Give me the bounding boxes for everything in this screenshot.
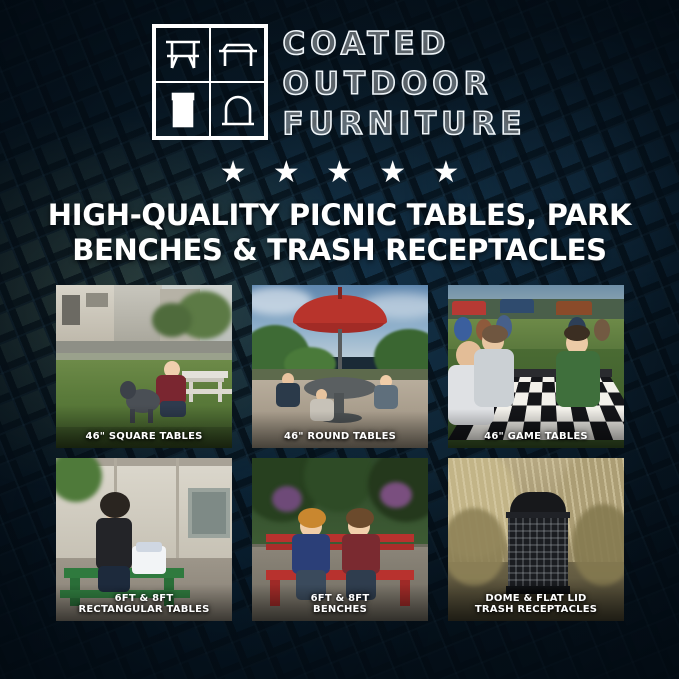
gallery-caption: 46" SQUARE TABLES (56, 431, 232, 442)
caption-line-1: 6FT & 8FT (256, 593, 424, 604)
caption-line-2: BENCHES (256, 604, 424, 615)
gallery-caption: 46" GAME TABLES (448, 431, 624, 442)
gallery-caption: 6FT & 8FT BENCHES (252, 593, 428, 615)
caption-line-1: 6FT & 8FT (60, 593, 228, 604)
caption-line-2: TRASH RECEPTACLES (452, 604, 620, 615)
logo-icon-grid (152, 24, 268, 140)
gallery-caption: 46" ROUND TABLES (252, 431, 428, 442)
photo-game-tables (448, 285, 624, 448)
trash-receptacle-icon (155, 82, 210, 137)
caption-line-1: DOME & FLAT LID (452, 593, 620, 604)
logo-word-1: COATED (282, 26, 526, 64)
logo-wordmark: COATED OUTDOOR FURNITURE (282, 24, 526, 143)
page-title: HIGH-QUALITY PICNIC TABLES, PARK BENCHES… (0, 198, 679, 268)
headline-line-2: BENCHES & TRASH RECEPTACLES (34, 233, 645, 268)
bench-icon (210, 27, 265, 82)
headline-line-1: HIGH-QUALITY PICNIC TABLES, PARK (34, 198, 645, 233)
logo-word-3: FURNITURE (282, 106, 526, 144)
photo-square-tables (56, 285, 232, 448)
arch-bench-icon (210, 82, 265, 137)
star-rating: ★ ★ ★ ★ ★ (0, 158, 679, 188)
gallery-tile-rectangular-tables[interactable]: 6FT & 8FT RECTANGULAR TABLES (56, 458, 232, 621)
picnic-table-icon (155, 27, 210, 82)
gallery-tile-square-tables[interactable]: 46" SQUARE TABLES (56, 285, 232, 448)
brand-logo: COATED OUTDOOR FURNITURE (0, 24, 679, 143)
gallery-tile-benches[interactable]: 6FT & 8FT BENCHES (252, 458, 428, 621)
gallery-caption: DOME & FLAT LID TRASH RECEPTACLES (448, 593, 624, 615)
product-gallery: 46" SQUARE TABLES (56, 285, 624, 621)
gallery-tile-trash-receptacles[interactable]: DOME & FLAT LID TRASH RECEPTACLES (448, 458, 624, 621)
gallery-tile-round-tables[interactable]: 46" ROUND TABLES (252, 285, 428, 448)
caption-line-2: RECTANGULAR TABLES (60, 604, 228, 615)
gallery-caption: 6FT & 8FT RECTANGULAR TABLES (56, 593, 232, 615)
photo-round-tables (252, 285, 428, 448)
product-banner: COATED OUTDOOR FURNITURE ★ ★ ★ ★ ★ HIGH-… (0, 0, 679, 679)
gallery-tile-game-tables[interactable]: 46" GAME TABLES (448, 285, 624, 448)
logo-word-2: OUTDOOR (282, 66, 526, 104)
